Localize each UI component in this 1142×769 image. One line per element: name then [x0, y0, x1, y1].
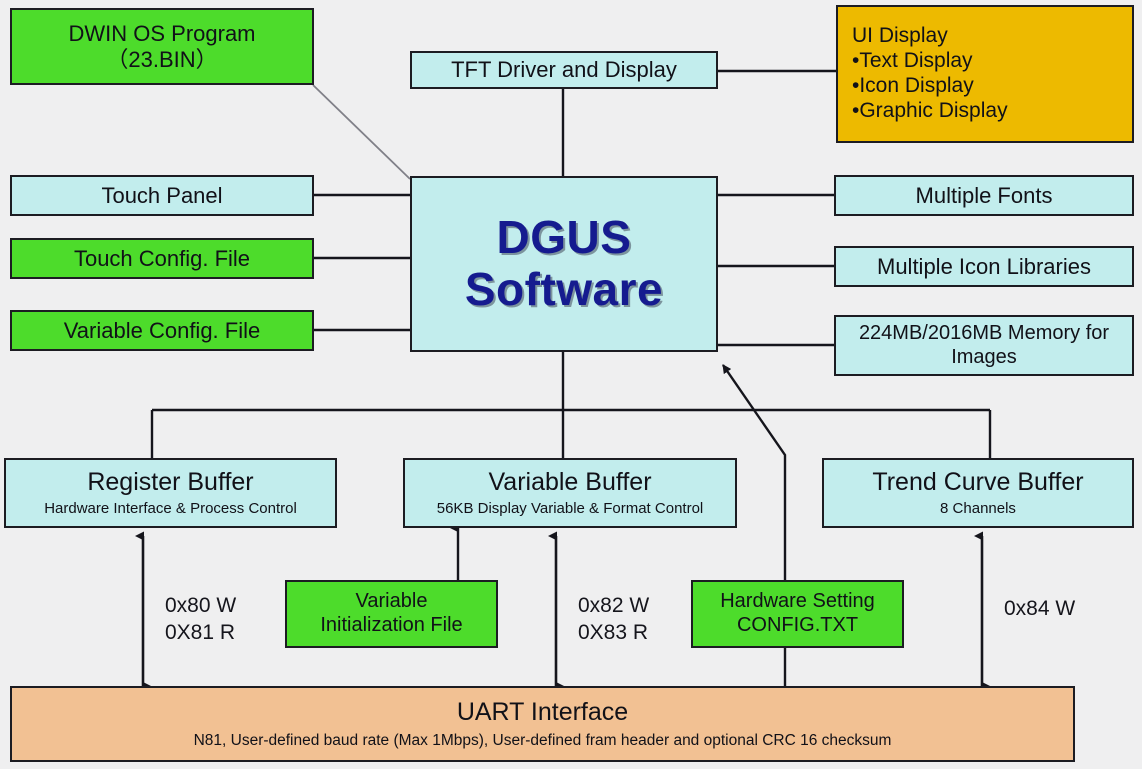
multiple-fonts-label: Multiple Fonts	[916, 183, 1053, 209]
ui-display-bullet-icon: •Icon Display	[852, 74, 974, 99]
trend-curve-buffer-title: Trend Curve Buffer	[872, 468, 1083, 498]
address-trend-write: 0x84 W	[1004, 595, 1075, 622]
hardware-setting-line2: CONFIG.TXT	[737, 614, 858, 638]
address-variable-read: 0X83 R	[578, 619, 649, 646]
dwin-os-program-line1: DWIN OS Program	[68, 21, 255, 47]
ui-display-heading: UI Display	[852, 24, 948, 49]
address-label-register: 0x80 W 0X81 R	[165, 592, 236, 647]
variable-config-file-label: Variable Config. File	[64, 318, 260, 344]
variable-init-file-line2: Initialization File	[320, 614, 462, 638]
uart-interface-title: UART Interface	[457, 698, 628, 728]
variable-buffer-title: Variable Buffer	[488, 468, 651, 498]
touch-panel-label: Touch Panel	[101, 183, 222, 209]
node-touch-panel[interactable]: Touch Panel	[10, 175, 314, 216]
register-buffer-title: Register Buffer	[87, 468, 253, 498]
node-variable-buffer[interactable]: Variable Buffer 56KB Display Variable & …	[403, 458, 737, 528]
node-multiple-icon-libraries[interactable]: Multiple Icon Libraries	[834, 246, 1134, 287]
node-multiple-fonts[interactable]: Multiple Fonts	[834, 175, 1134, 216]
architecture-diagram: DWIN OS Program （23.BIN） TFT Driver and …	[0, 0, 1142, 769]
address-label-trend: 0x84 W	[1004, 595, 1075, 622]
node-variable-initialization-file[interactable]: Variable Initialization File	[285, 580, 498, 648]
ui-display-bullet-text: •Text Display	[852, 49, 973, 74]
register-buffer-subtitle: Hardware Interface & Process Control	[44, 500, 297, 518]
node-dgus-software[interactable]: DGUS Software	[410, 176, 718, 352]
image-memory-line1: 224MB/2016MB Memory for	[859, 322, 1109, 346]
node-trend-curve-buffer[interactable]: Trend Curve Buffer 8 Channels	[822, 458, 1134, 528]
multiple-icon-libraries-label: Multiple Icon Libraries	[877, 254, 1091, 280]
image-memory-line2: Images	[951, 346, 1017, 370]
hardware-setting-line1: Hardware Setting	[720, 590, 875, 614]
node-variable-config-file[interactable]: Variable Config. File	[10, 310, 314, 351]
address-label-variable: 0x82 W 0X83 R	[578, 592, 649, 647]
dwin-os-program-line2: （23.BIN）	[106, 47, 217, 73]
ui-display-bullet-graphic: •Graphic Display	[852, 99, 1008, 124]
node-hardware-setting-config[interactable]: Hardware Setting CONFIG.TXT	[691, 580, 904, 648]
node-register-buffer[interactable]: Register Buffer Hardware Interface & Pro…	[4, 458, 337, 528]
node-tft-driver-and-display[interactable]: TFT Driver and Display	[410, 51, 718, 89]
trend-curve-buffer-subtitle: 8 Channels	[940, 500, 1016, 518]
node-uart-interface[interactable]: UART Interface N81, User-defined baud ra…	[10, 686, 1075, 762]
address-register-read: 0X81 R	[165, 619, 236, 646]
node-dwin-os-program[interactable]: DWIN OS Program （23.BIN）	[10, 8, 314, 85]
dgus-software-line2: Software	[465, 264, 663, 316]
address-register-write: 0x80 W	[165, 592, 236, 619]
uart-interface-subtitle: N81, User-defined baud rate (Max 1Mbps),…	[194, 732, 892, 750]
touch-config-file-label: Touch Config. File	[74, 246, 250, 272]
dgus-software-line1: DGUS	[497, 212, 632, 264]
variable-buffer-subtitle: 56KB Display Variable & Format Control	[437, 500, 704, 518]
variable-init-file-line1: Variable	[356, 590, 428, 614]
node-image-memory[interactable]: 224MB/2016MB Memory for Images	[834, 315, 1134, 376]
tft-driver-label: TFT Driver and Display	[451, 57, 677, 83]
node-ui-display[interactable]: UI Display •Text Display •Icon Display •…	[836, 5, 1134, 143]
address-variable-write: 0x82 W	[578, 592, 649, 619]
node-touch-config-file[interactable]: Touch Config. File	[10, 238, 314, 279]
